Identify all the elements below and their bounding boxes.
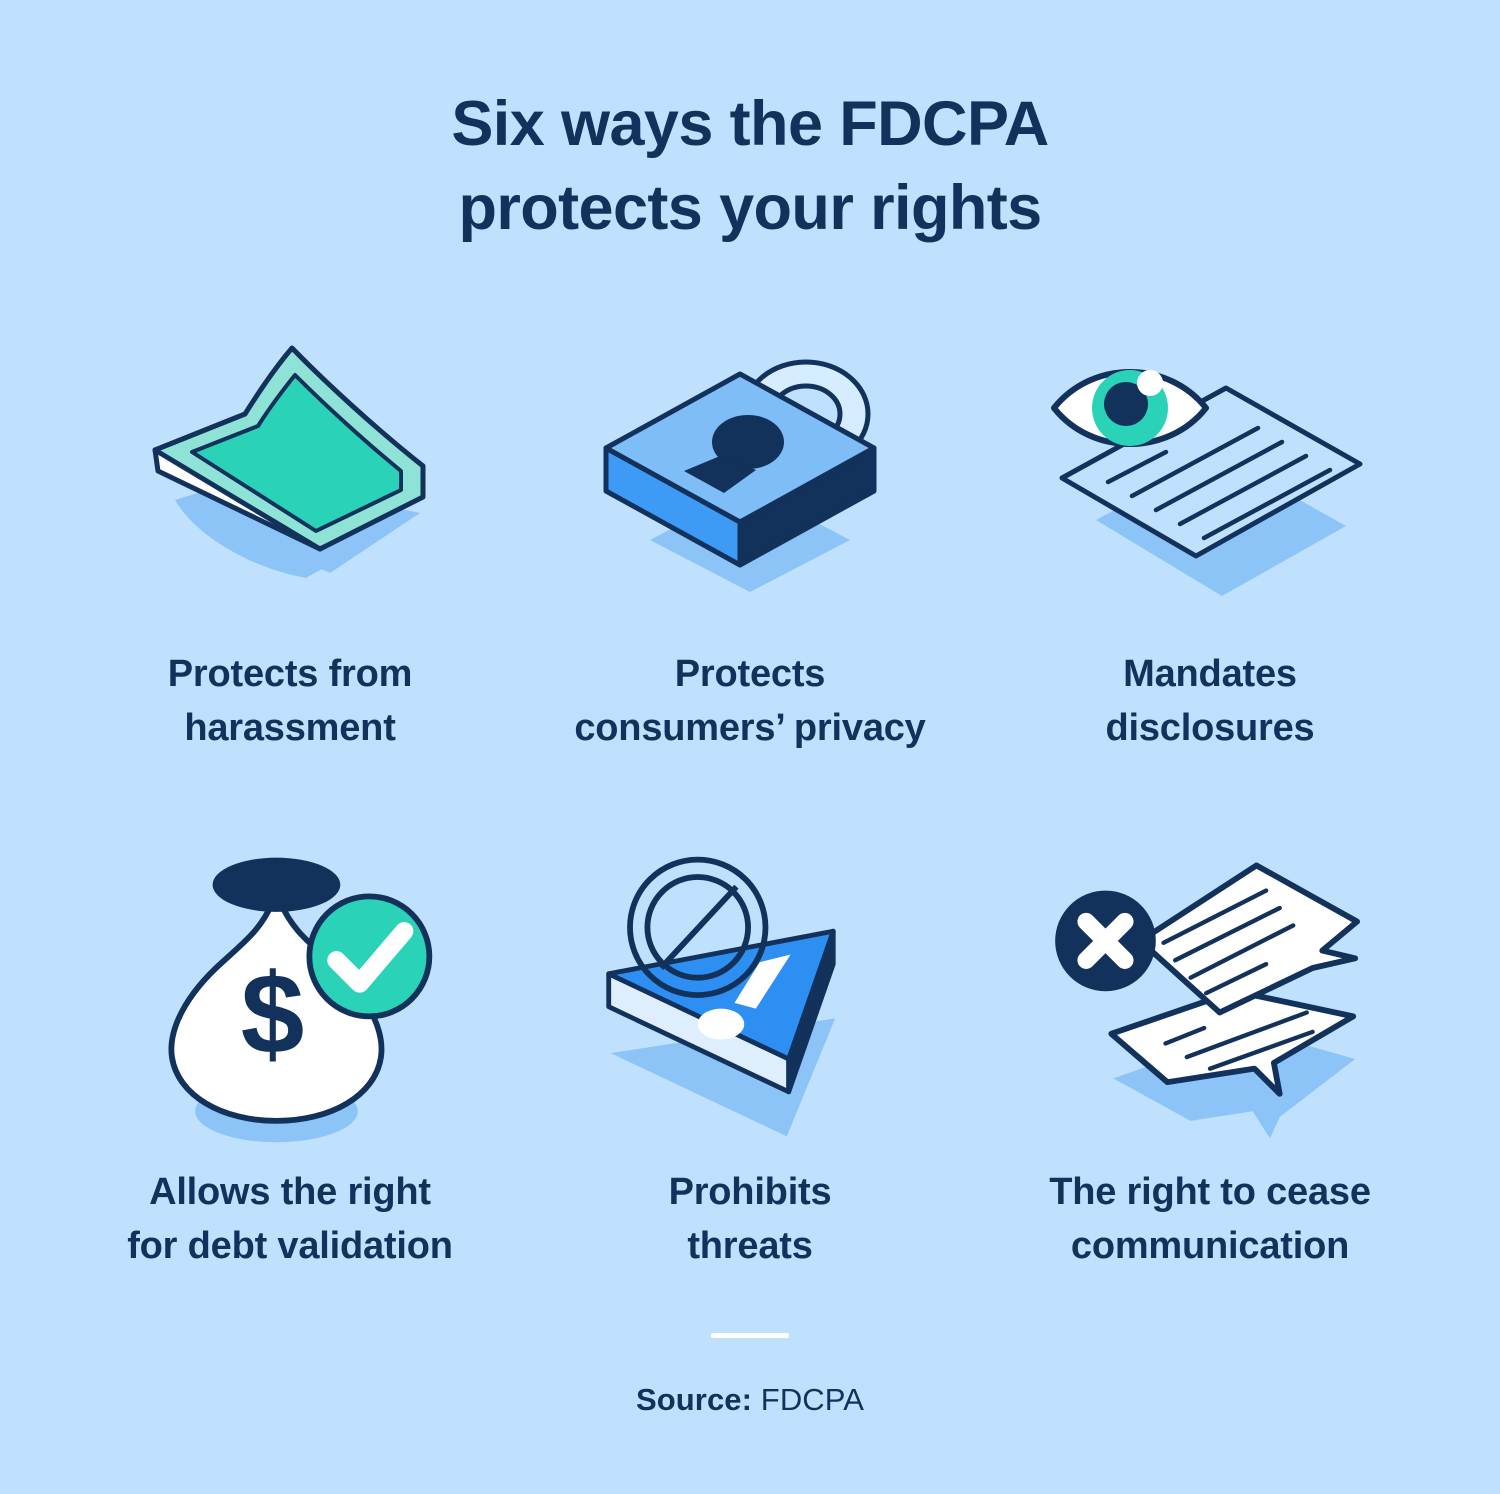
grid-item-label: Protects consumers’ privacy <box>574 648 925 756</box>
grid-item-label: The right to cease communication <box>1049 1166 1371 1274</box>
eye-document-icon <box>1040 330 1380 630</box>
speech-bubbles-x-icon <box>1040 848 1380 1158</box>
grid-item-protects-from-harassment: Protects from harassment <box>60 330 520 760</box>
source-value: FDCPA <box>761 1382 864 1417</box>
infographic-page: Six ways the FDCPA protects your rights <box>0 0 1500 1494</box>
grid-item-label: Protects from harassment <box>168 648 412 756</box>
footer: Source: FDCPA <box>0 1333 1500 1418</box>
grid-item-allows-debt-validation: $ Allows the right for debt validation <box>60 848 520 1278</box>
warning-prohibit-icon <box>580 848 920 1158</box>
grid-item-mandates-disclosures: Mandates disclosures <box>980 330 1440 760</box>
grid-item-cease-communication: The right to cease communication <box>980 848 1440 1278</box>
benefits-grid: Protects from harassment <box>60 330 1440 1278</box>
shield-icon <box>120 330 460 630</box>
grid-item-label: Mandates disclosures <box>1105 648 1314 756</box>
source-label: Source: <box>636 1382 752 1417</box>
page-title: Six ways the FDCPA protects your rights <box>0 82 1500 251</box>
grid-item-prohibits-threats: Prohibits threats <box>520 848 980 1278</box>
source-attribution: Source: FDCPA <box>0 1382 1500 1418</box>
grid-item-label: Prohibits threats <box>669 1166 832 1274</box>
footer-divider <box>711 1333 789 1338</box>
svg-text:$: $ <box>241 951 305 1078</box>
money-bag-check-icon: $ <box>120 848 460 1158</box>
padlock-icon <box>580 330 920 630</box>
grid-item-protects-consumers-privacy: Protects consumers’ privacy <box>520 330 980 760</box>
grid-item-label: Allows the right for debt validation <box>127 1166 453 1274</box>
